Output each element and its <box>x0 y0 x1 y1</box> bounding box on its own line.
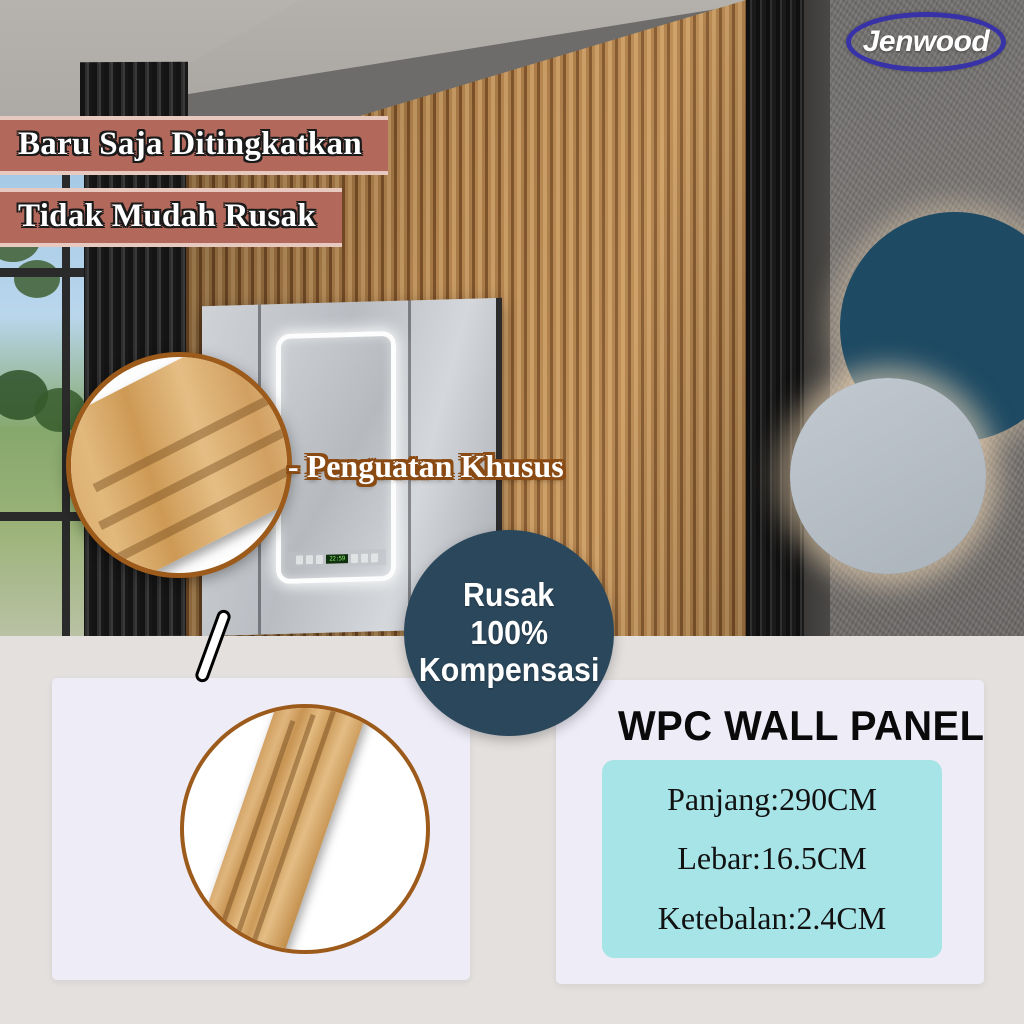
cabinet-control-panel: 22:59 <box>288 549 386 568</box>
clock-display: 22:59 <box>326 554 348 564</box>
product-spec-card: WPC WALL PANEL Panjang:290CM Lebar:16.5C… <box>556 680 984 984</box>
headline-banner-1: Baru Saja Ditingkatkan <box>0 116 388 175</box>
product-photo-circle <box>180 704 430 954</box>
reinforcement-callout: - Penguatan Khusus <box>288 448 564 485</box>
badge-line-2: 100% <box>470 615 548 652</box>
wpc-panel-product <box>193 704 367 954</box>
black-slat-wall-right <box>746 0 804 636</box>
control-icon <box>351 553 358 562</box>
control-icon <box>371 553 378 562</box>
product-photo-card <box>52 678 470 980</box>
control-icon <box>306 555 313 564</box>
control-icon <box>361 553 368 562</box>
brand-logo: Jenwood <box>846 12 1006 72</box>
spec-thickness: Ketebalan:2.4CM <box>658 900 886 937</box>
control-icon <box>296 555 303 564</box>
compensation-badge: Rusak 100% Kompensasi <box>404 530 614 736</box>
badge-line-1: Rusak <box>463 577 554 614</box>
spec-width: Lebar:16.5CM <box>677 840 866 877</box>
wall-decor-circle-light <box>790 378 986 574</box>
product-title: WPC WALL PANEL <box>618 702 984 750</box>
wpc-panel-closeup <box>66 352 292 578</box>
badge-line-3: Kompensasi <box>419 652 600 689</box>
spec-length: Panjang:290CM <box>667 781 877 818</box>
spec-list: Panjang:290CM Lebar:16.5CM Ketebalan:2.4… <box>602 760 942 958</box>
logo-text: Jenwood <box>863 25 990 59</box>
panel-closeup-circle <box>66 352 292 578</box>
control-icon <box>316 554 323 563</box>
headline-banner-2: Tidak Mudah Rusak <box>0 188 342 247</box>
